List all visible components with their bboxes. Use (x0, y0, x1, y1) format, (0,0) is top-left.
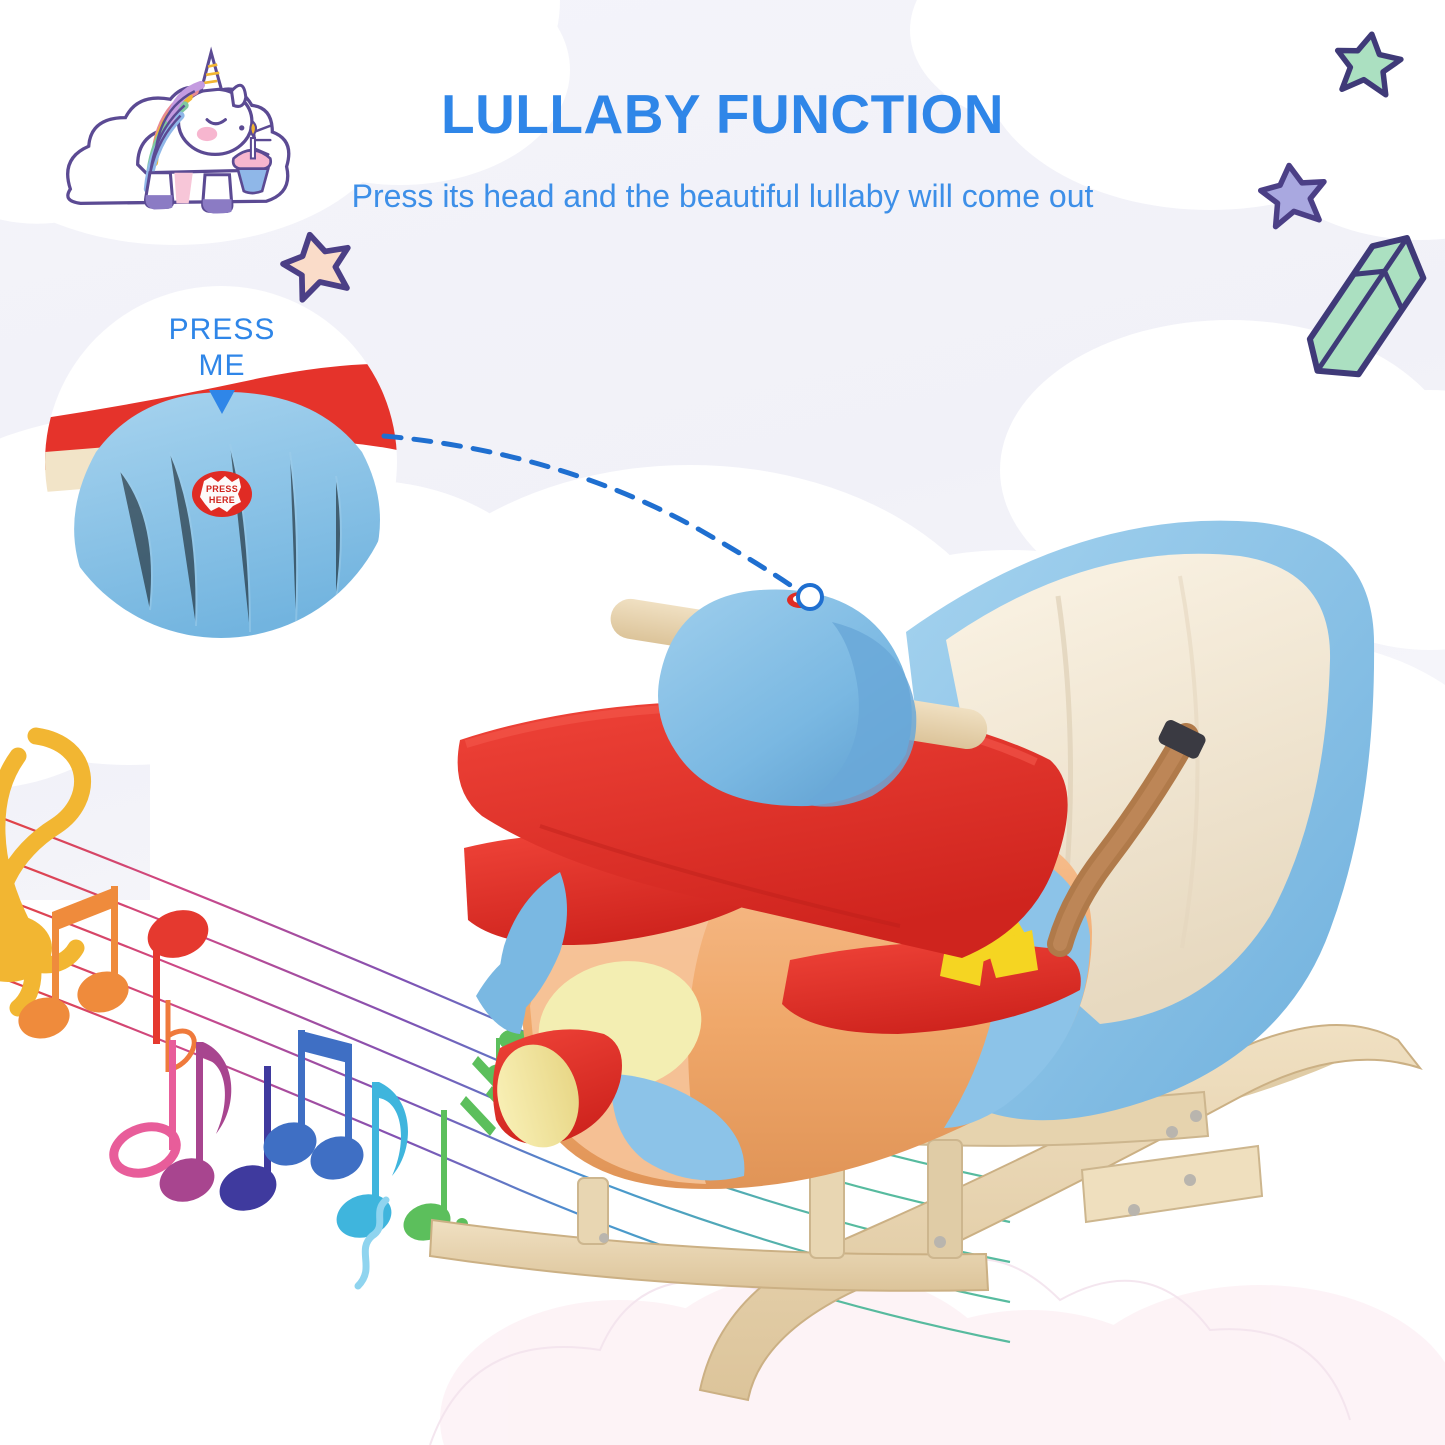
page-subtitle: Press its head and the beautiful lullaby… (0, 178, 1445, 215)
callout-target-marker (798, 585, 822, 609)
banner-canvas: PRESS HERE LULLABY FUNCTION Press its he… (0, 0, 1445, 1445)
svg-text:PRESS: PRESS (206, 484, 238, 494)
callout-layer: PRESS HERE (0, 0, 1445, 1445)
press-me-label: PRESS ME (132, 312, 312, 384)
press-here-badge: PRESS HERE (192, 471, 252, 517)
callout-connector (384, 436, 806, 596)
page-title: LULLABY FUNCTION (0, 82, 1445, 146)
press-me-line1: PRESS (169, 313, 276, 346)
press-me-line2: ME (199, 349, 246, 382)
svg-text:HERE: HERE (209, 495, 235, 505)
